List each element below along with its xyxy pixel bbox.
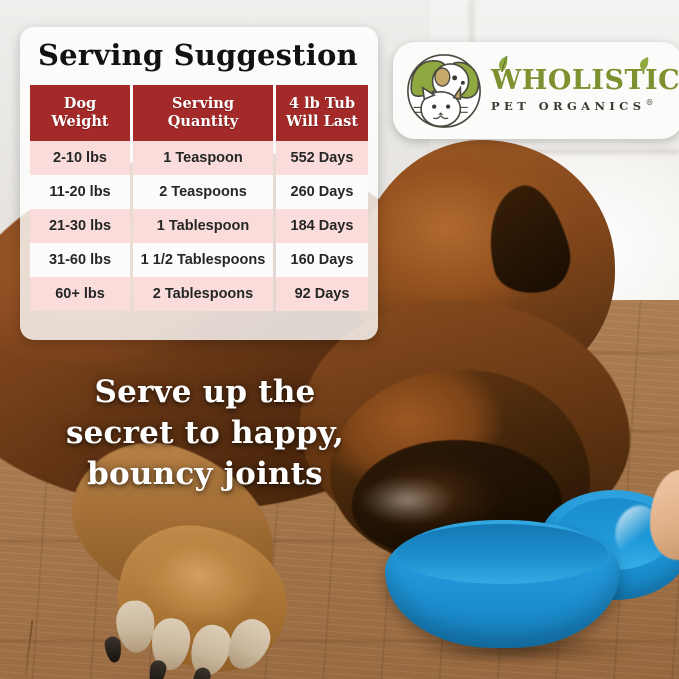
serving-suggestion-card: Serving Suggestion Dog Weight Serving Qu…: [20, 27, 378, 340]
registered-trademark-icon: ®: [645, 98, 653, 108]
brand-logo-badge: WHOLISTIC PET ORGANICS®: [393, 42, 679, 139]
table-row: 11-20 lbs 2 Teaspoons 260 Days: [30, 175, 368, 209]
column-header-serving-quantity: Serving Quantity: [133, 85, 273, 141]
tagline-line-2: secret to happy,: [40, 413, 370, 454]
brand-wordmark: WHOLISTIC PET ORGANICS®: [491, 66, 679, 116]
tagline-line-3: bouncy joints: [40, 454, 370, 495]
serving-suggestion-table: Dog Weight Serving Quantity 4 lb Tub Wil…: [27, 85, 371, 311]
cell-dog-weight: 2-10 lbs: [30, 141, 130, 175]
card-title: Serving Suggestion: [38, 38, 378, 72]
cell-tub-duration: 160 Days: [276, 243, 368, 277]
cell-dog-weight: 11-20 lbs: [30, 175, 130, 209]
product-lifestyle-image: Serving Suggestion Dog Weight Serving Qu…: [0, 0, 679, 679]
tagline-line-1: Serve up the: [40, 372, 370, 413]
cell-dog-weight: 31-60 lbs: [30, 243, 130, 277]
dog-bowl-left-interior: [396, 524, 608, 584]
cell-dog-weight: 60+ lbs: [30, 277, 130, 311]
header-line: Dog: [64, 95, 96, 112]
cell-serving-quantity: 1 1/2 Tablespoons: [133, 243, 273, 277]
brand-tagline: PET ORGANICS®: [491, 99, 653, 113]
table-row: 2-10 lbs 1 Teaspoon 552 Days: [30, 141, 368, 175]
brand-name: WHOLISTIC: [491, 65, 679, 96]
cell-tub-duration: 260 Days: [276, 175, 368, 209]
table-row: 31-60 lbs 1 1/2 Tablespoons 160 Days: [30, 243, 368, 277]
table-header-row: Dog Weight Serving Quantity 4 lb Tub Wil…: [30, 85, 368, 141]
cell-tub-duration: 184 Days: [276, 209, 368, 243]
column-header-tub-duration: 4 lb Tub Will Last: [276, 85, 368, 141]
column-header-dog-weight: Dog Weight: [30, 85, 130, 141]
header-line: Weight: [51, 113, 108, 130]
cell-serving-quantity: 2 Teaspoons: [133, 175, 273, 209]
cell-serving-quantity: 2 Tablespoons: [133, 277, 273, 311]
cell-tub-duration: 552 Days: [276, 141, 368, 175]
cell-tub-duration: 92 Days: [276, 277, 368, 311]
dog-and-cat-emblem-icon: [403, 50, 485, 132]
header-line: Will Last: [286, 113, 358, 130]
brand-tagline-text: PET ORGANICS: [491, 99, 645, 113]
cell-dog-weight: 21-30 lbs: [30, 209, 130, 243]
header-line: 4 lb Tub: [289, 95, 355, 112]
header-line: Serving Quantity: [168, 95, 238, 130]
table-row: 21-30 lbs 1 Tablespoon 184 Days: [30, 209, 368, 243]
table-row: 60+ lbs 2 Tablespoons 92 Days: [30, 277, 368, 311]
cell-serving-quantity: 1 Tablespoon: [133, 209, 273, 243]
marketing-tagline: Serve up the secret to happy, bouncy joi…: [40, 372, 370, 495]
cell-serving-quantity: 1 Teaspoon: [133, 141, 273, 175]
brand-name-text: WHOLISTIC: [491, 65, 679, 96]
